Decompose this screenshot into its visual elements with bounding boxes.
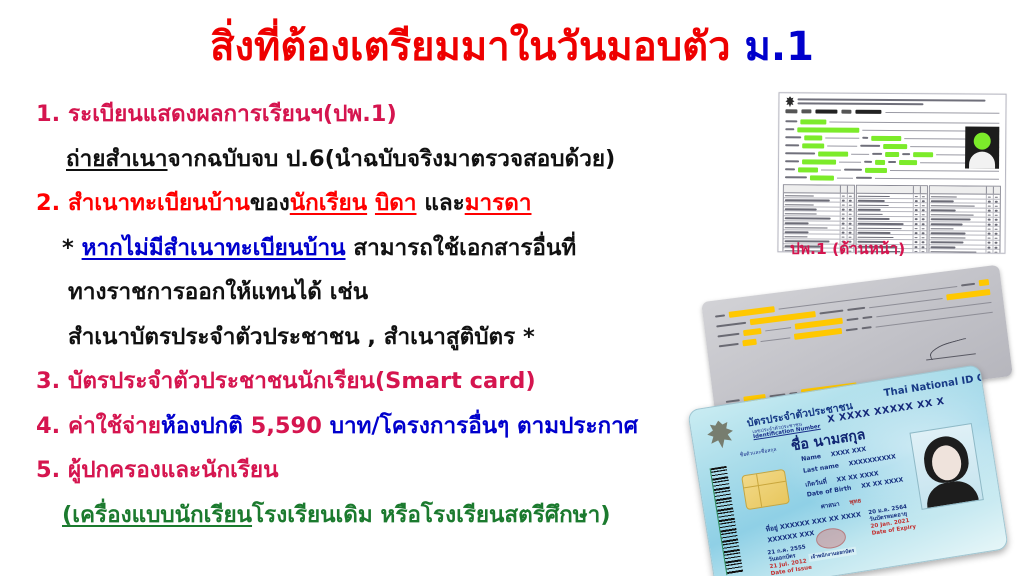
item-2-part: มารดา: [465, 190, 532, 216]
item-5: 5. ผู้ปกครองและนักเรียน: [36, 448, 696, 493]
item-1-part: 1. ระเบียนแสดงผลการเรียนฯ(ปพ.1): [36, 101, 397, 127]
item-4-part: 4. ค่าใช้จ่าย: [36, 413, 161, 439]
ppor1-header: [779, 93, 1005, 110]
item-2-part: และ: [416, 190, 464, 216]
official-seal-icon: [815, 526, 848, 550]
item-1-sub-part: จากฉบับจบ ป.6(นำฉบับจริงมาตรวจสอบด้วย): [168, 146, 616, 172]
id-portrait-photo: [909, 423, 983, 510]
item-3: 3. บัตรประจำตัวประชาชนนักเรียน(Smart car…: [36, 359, 696, 404]
id-officer-label: เจ้าพนักงานออกบัตร: [808, 547, 857, 562]
item-2-sub1-part: หากไม่มีสำเนาทะเบียนบ้าน: [82, 235, 346, 261]
id-issue-date: 21 ก.ค. 2555 วันออกบัตร 21 Jul. 2012 Dat…: [767, 544, 812, 576]
ppor1-doc-title: [797, 98, 1001, 106]
id-expiry-date: 20 ม.ค. 2564 วันบัตรหมดอายุ 20 Jan. 2021…: [868, 503, 917, 538]
id-name-label-th: ชื่อตัวและชื่อสกุล: [739, 446, 777, 460]
item-2-part: นักเรียน: [290, 190, 367, 216]
item-3-part: 3. บัตรประจำตัวประชาชนนักเรียน(Smart car…: [36, 368, 536, 394]
page-title-main: สิ่งที่ต้องเตรียมมาในวันมอบตัว: [210, 24, 744, 70]
ppor1-table-column: [928, 185, 1001, 254]
item-5-sub-part: โรงเรียนเดิม หรือโรงเรียนสตรีศึกษา): [252, 502, 610, 528]
smartcard-chip-icon: [741, 469, 790, 510]
item-5-sub-part: (เครื่องแบบนักเรียน: [62, 502, 252, 528]
ppor1-student-photo: [965, 127, 999, 169]
item-1-sub-part: ถ่ายสำเนา: [66, 146, 168, 172]
item-2-sub2-part: ทางราชการออกให้แทนได้ เช่น: [68, 279, 368, 305]
page-title-grade: ม.1: [745, 24, 814, 70]
item-2-sub1: * หากไม่มีสำเนาทะเบียนบ้าน สามารถใช้เอกส…: [36, 226, 696, 271]
item-5-sub: (เครื่องแบบนักเรียนโรงเรียนเดิม หรือโรงเ…: [36, 493, 696, 538]
item-4-part: บาท/โครงการอื่นๆ ตามประกาศ: [330, 413, 638, 439]
item-2-part: บิดา: [375, 190, 417, 216]
item-2-part: [367, 190, 375, 216]
garuda-emblem-icon: [785, 96, 794, 107]
garuda-emblem-icon: [705, 419, 735, 451]
item-2-sub1-part: *: [62, 235, 82, 261]
item-2-sub1-part: สามารถใช้เอกสารอื่นที่: [346, 235, 577, 261]
item-2-sub3: สำเนาบัตรประจำตัวประชาชน , สำเนาสูติบัตร…: [36, 315, 696, 360]
item-1-sub: ถ่ายสำเนาจากฉบับจบ ป.6(นำฉบับจริงมาตรวจส…: [36, 137, 696, 182]
item-2-part: ของ: [250, 190, 290, 216]
item-2: 2. สำเนาทะเบียนบ้านของนักเรียน บิดา และม…: [36, 181, 696, 226]
requirements-list: 1. ระเบียนแสดงผลการเรียนฯ(ปพ.1)ถ่ายสำเนา…: [36, 92, 696, 537]
ppor1-table-row: [929, 249, 999, 253]
housereg-signature: [924, 338, 976, 360]
item-5-part: 5. ผู้ปกครองและนักเรียน: [36, 457, 278, 483]
item-2-sub2: ทางราชการออกให้แทนได้ เช่น: [36, 270, 696, 315]
item-4-part: 5,590: [243, 413, 330, 439]
ppor1-fields: [779, 115, 1005, 183]
page-title: สิ่งที่ต้องเตรียมมาในวันมอบตัว ม.1: [0, 22, 1024, 72]
ppor1-caption: ปพ.1 (ด้านหน้า): [790, 236, 905, 261]
ppor1-document-image: [777, 92, 1006, 254]
item-4-part: ห้องปกติ: [161, 413, 243, 439]
slide-canvas: สิ่งที่ต้องเตรียมมาในวันมอบตัว ม.1 1. ระ…: [0, 0, 1024, 576]
item-2-sub3-part: สำเนาบัตรประจำตัวประชาชน , สำเนาสูติบัตร…: [68, 324, 535, 350]
item-4: 4. ค่าใช้จ่ายห้องปกติ 5,590 บาท/โครงการอ…: [36, 404, 696, 449]
item-2-part: 2. สำเนาทะเบียนบ้าน: [36, 190, 250, 216]
barcode: [710, 466, 744, 575]
item-1: 1. ระเบียนแสดงผลการเรียนฯ(ปพ.1): [36, 92, 696, 137]
